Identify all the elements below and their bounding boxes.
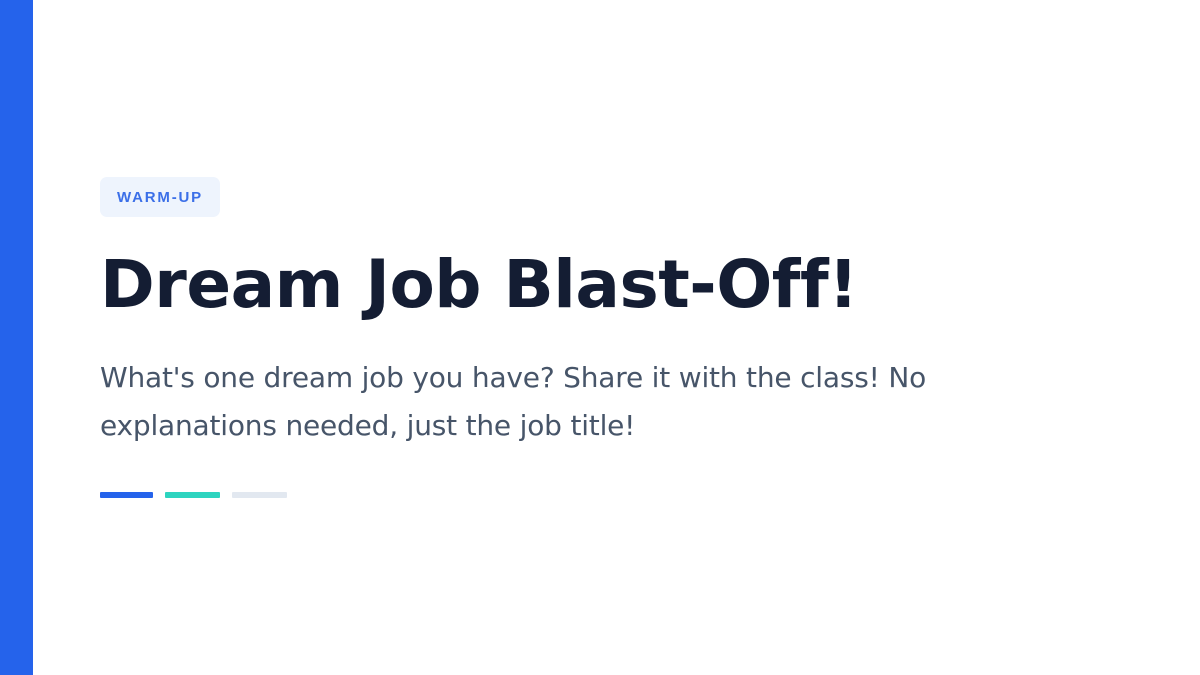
- progress-bar-3: [232, 492, 287, 498]
- slide-content: WARM-UP Dream Job Blast-Off! What's one …: [100, 0, 1060, 675]
- progress-bar-1: [100, 492, 153, 498]
- prompt-body-text: What's one dream job you have? Share it …: [100, 354, 1048, 450]
- page-title: Dream Job Blast-Off!: [100, 251, 858, 320]
- left-accent-stripe: [0, 0, 33, 675]
- warmup-badge: WARM-UP: [100, 177, 220, 217]
- slide-canvas: WARM-UP Dream Job Blast-Off! What's one …: [0, 0, 1200, 675]
- progress-bar-2: [165, 492, 220, 498]
- progress-indicator: [100, 492, 287, 498]
